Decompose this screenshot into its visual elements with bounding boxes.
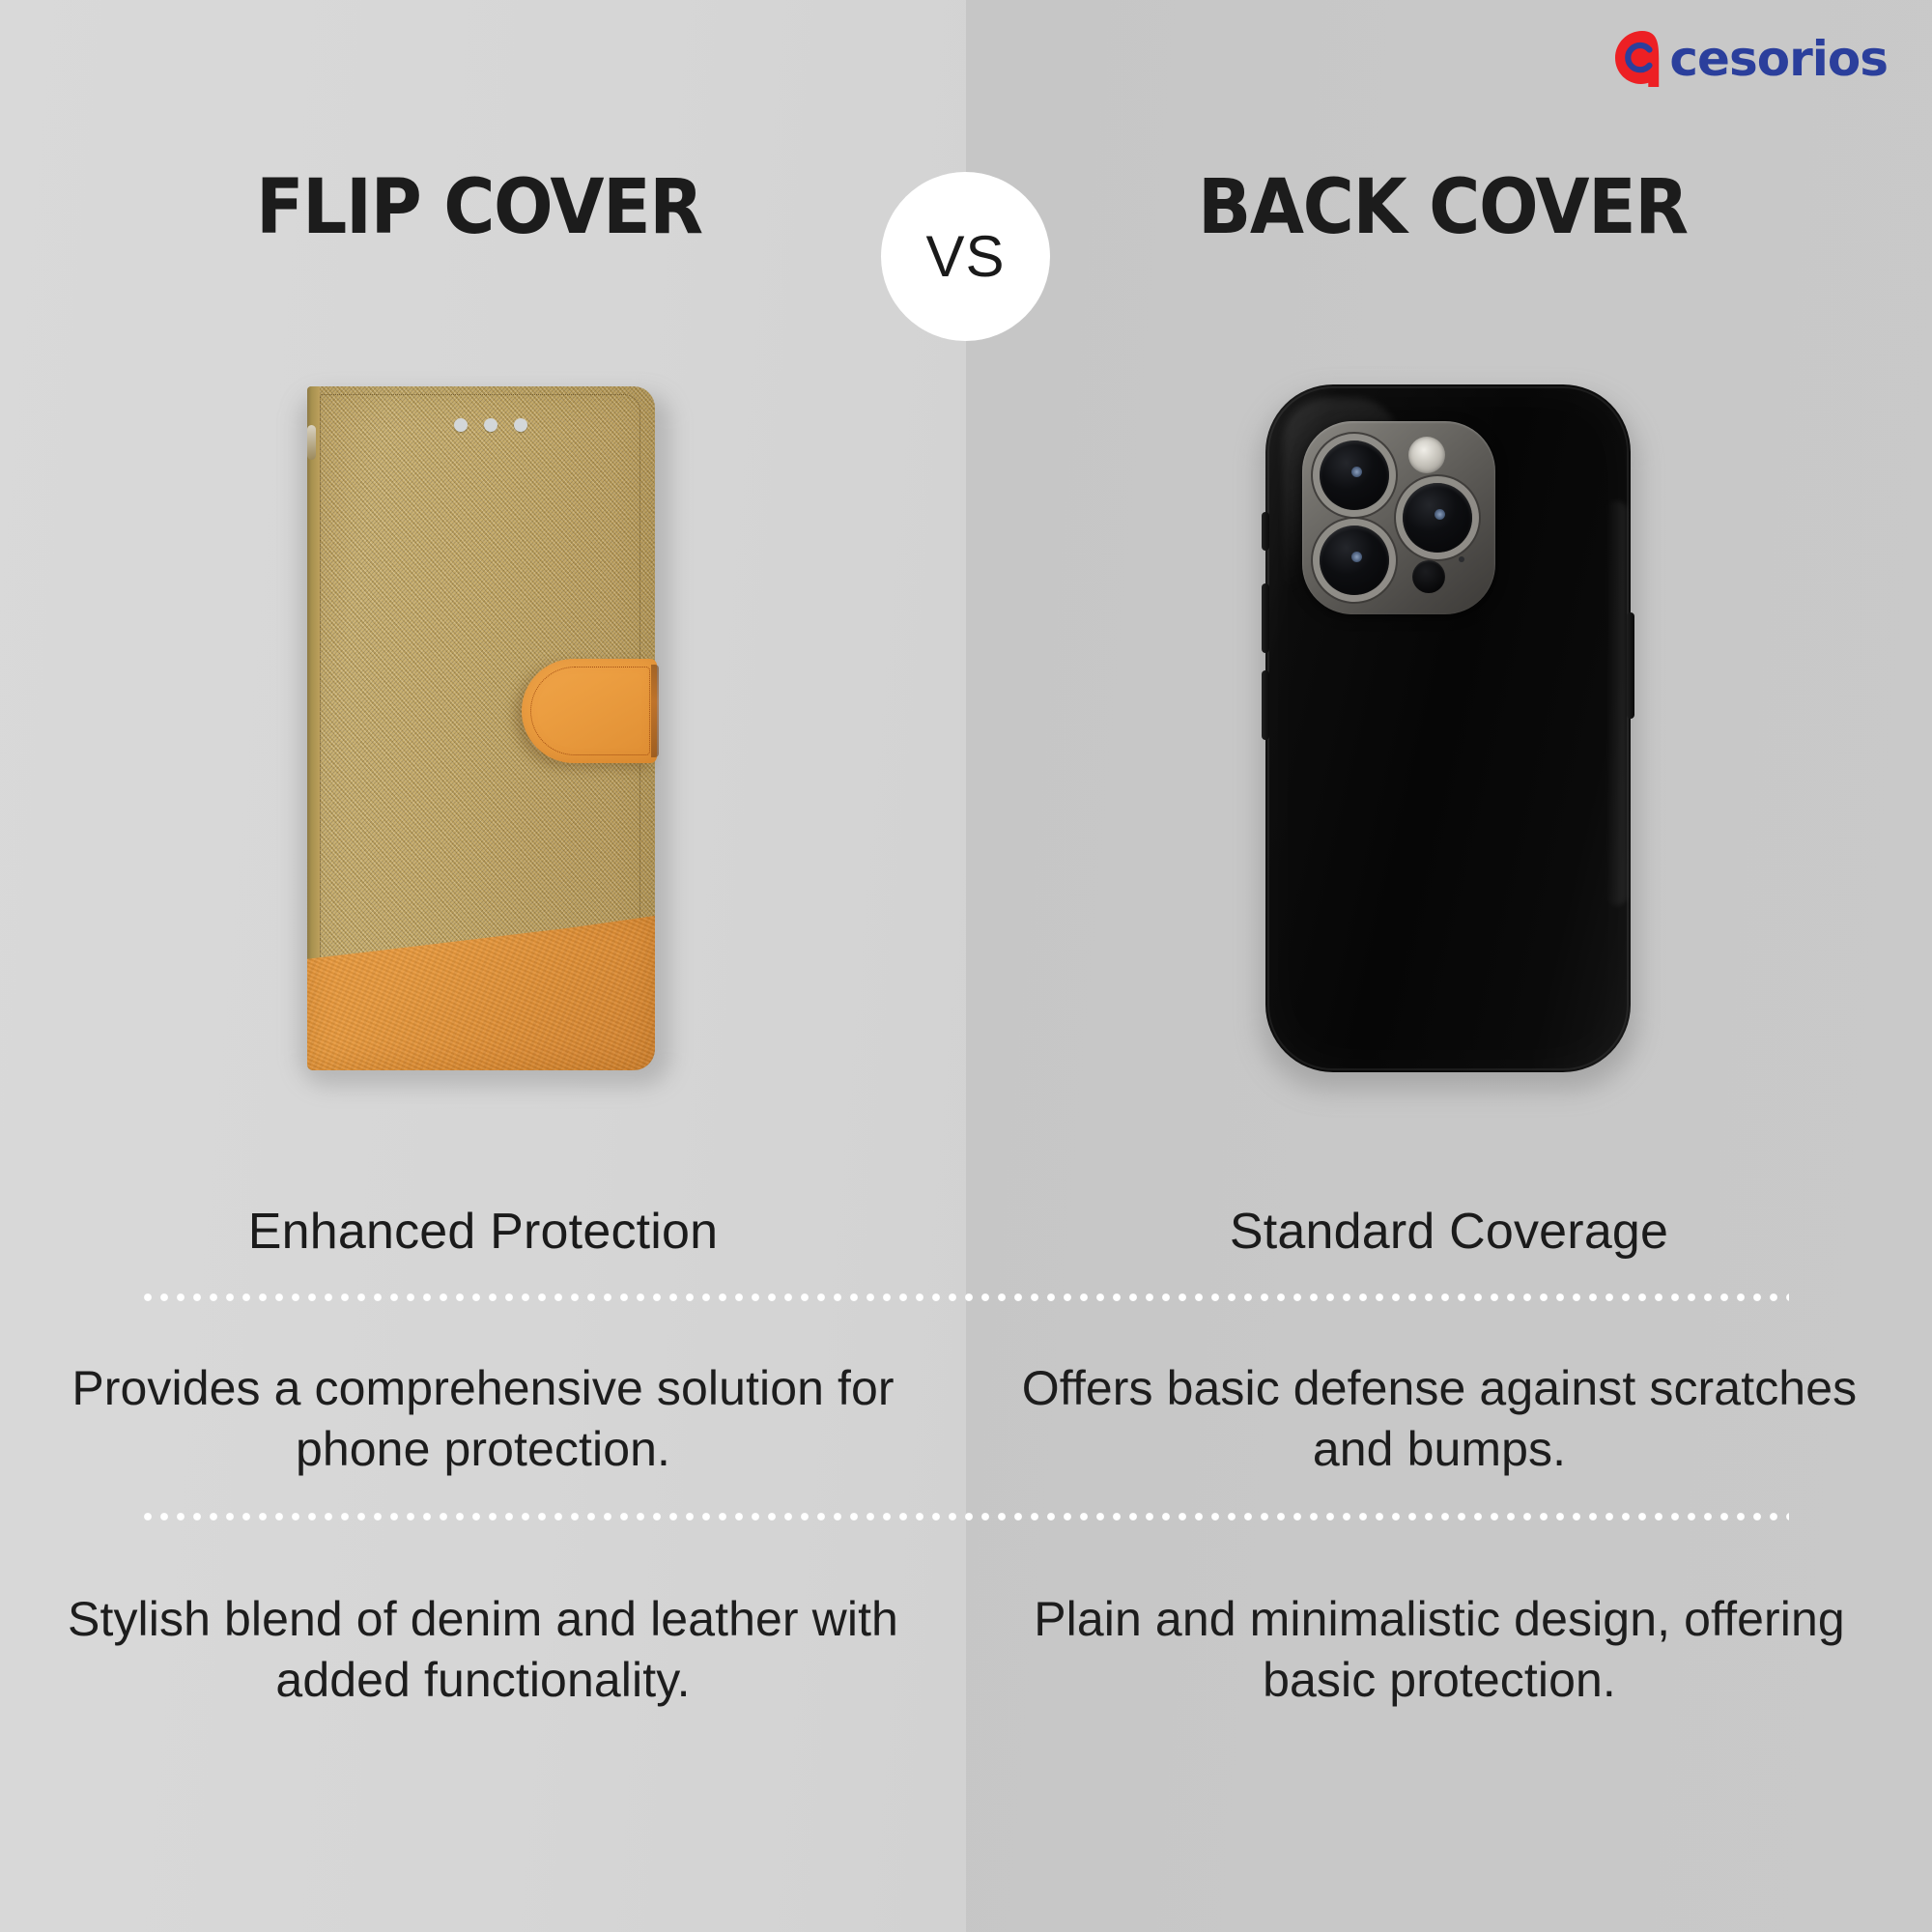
camera-lens-middle-right	[1403, 483, 1472, 553]
lens-specular-highlight	[1351, 467, 1362, 477]
mute-switch-cutout	[1262, 512, 1269, 551]
camera-lens-top-left	[1320, 440, 1389, 510]
magnet-dot	[454, 418, 468, 432]
brand-logo[interactable]: cesorios	[1612, 25, 1888, 93]
back-cover-product-image	[1265, 384, 1633, 1085]
camera-flash-icon	[1408, 437, 1445, 473]
clasp-stitching	[530, 667, 650, 755]
flip-cover-product-image	[307, 386, 663, 1082]
right-feature-2: Plain and minimalistic design, offering …	[1014, 1589, 1864, 1711]
divider-row-1	[143, 1293, 1789, 1302]
lens-specular-highlight	[1351, 552, 1362, 562]
clasp-edge	[651, 665, 659, 757]
back-cover-shell	[1265, 384, 1631, 1072]
camera-module	[1302, 421, 1495, 614]
camera-lens-bottom-left	[1320, 526, 1389, 595]
left-product-heading: FLIP COVER	[256, 164, 702, 251]
back-cover-side-highlight	[1605, 500, 1627, 906]
left-feature-2: Stylish blend of denim and leather with …	[58, 1589, 908, 1711]
vs-badge: VS	[881, 172, 1050, 341]
left-subtitle: Enhanced Protection	[0, 1203, 966, 1261]
infographic-canvas: cesorios FLIP COVER BACK COVER VS	[0, 0, 1932, 1932]
left-feature-1: Provides a comprehensive solution for ph…	[58, 1358, 908, 1480]
magnet-dot	[514, 418, 527, 432]
power-button-cutout	[1627, 612, 1634, 719]
divider-row-2	[143, 1512, 1789, 1521]
microphone-dot-icon	[1459, 556, 1464, 562]
lidar-sensor-icon	[1412, 560, 1445, 593]
right-subtitle: Standard Coverage	[966, 1203, 1932, 1261]
flip-cover-magnetic-clasp	[522, 659, 657, 763]
volume-down-button-cutout	[1262, 670, 1269, 740]
brand-logo-wordmark: cesorios	[1669, 35, 1888, 83]
right-feature-1: Offers basic defense against scratches a…	[1014, 1358, 1864, 1480]
right-product-heading: BACK COVER	[1198, 164, 1688, 251]
flip-cover-spine-highlight	[307, 425, 316, 460]
acesorios-a-mark-icon	[1612, 29, 1672, 89]
volume-up-button-cutout	[1262, 583, 1269, 653]
flip-cover-magnet-dots	[454, 418, 527, 432]
magnet-dot	[484, 418, 497, 432]
lens-specular-highlight	[1435, 509, 1445, 520]
